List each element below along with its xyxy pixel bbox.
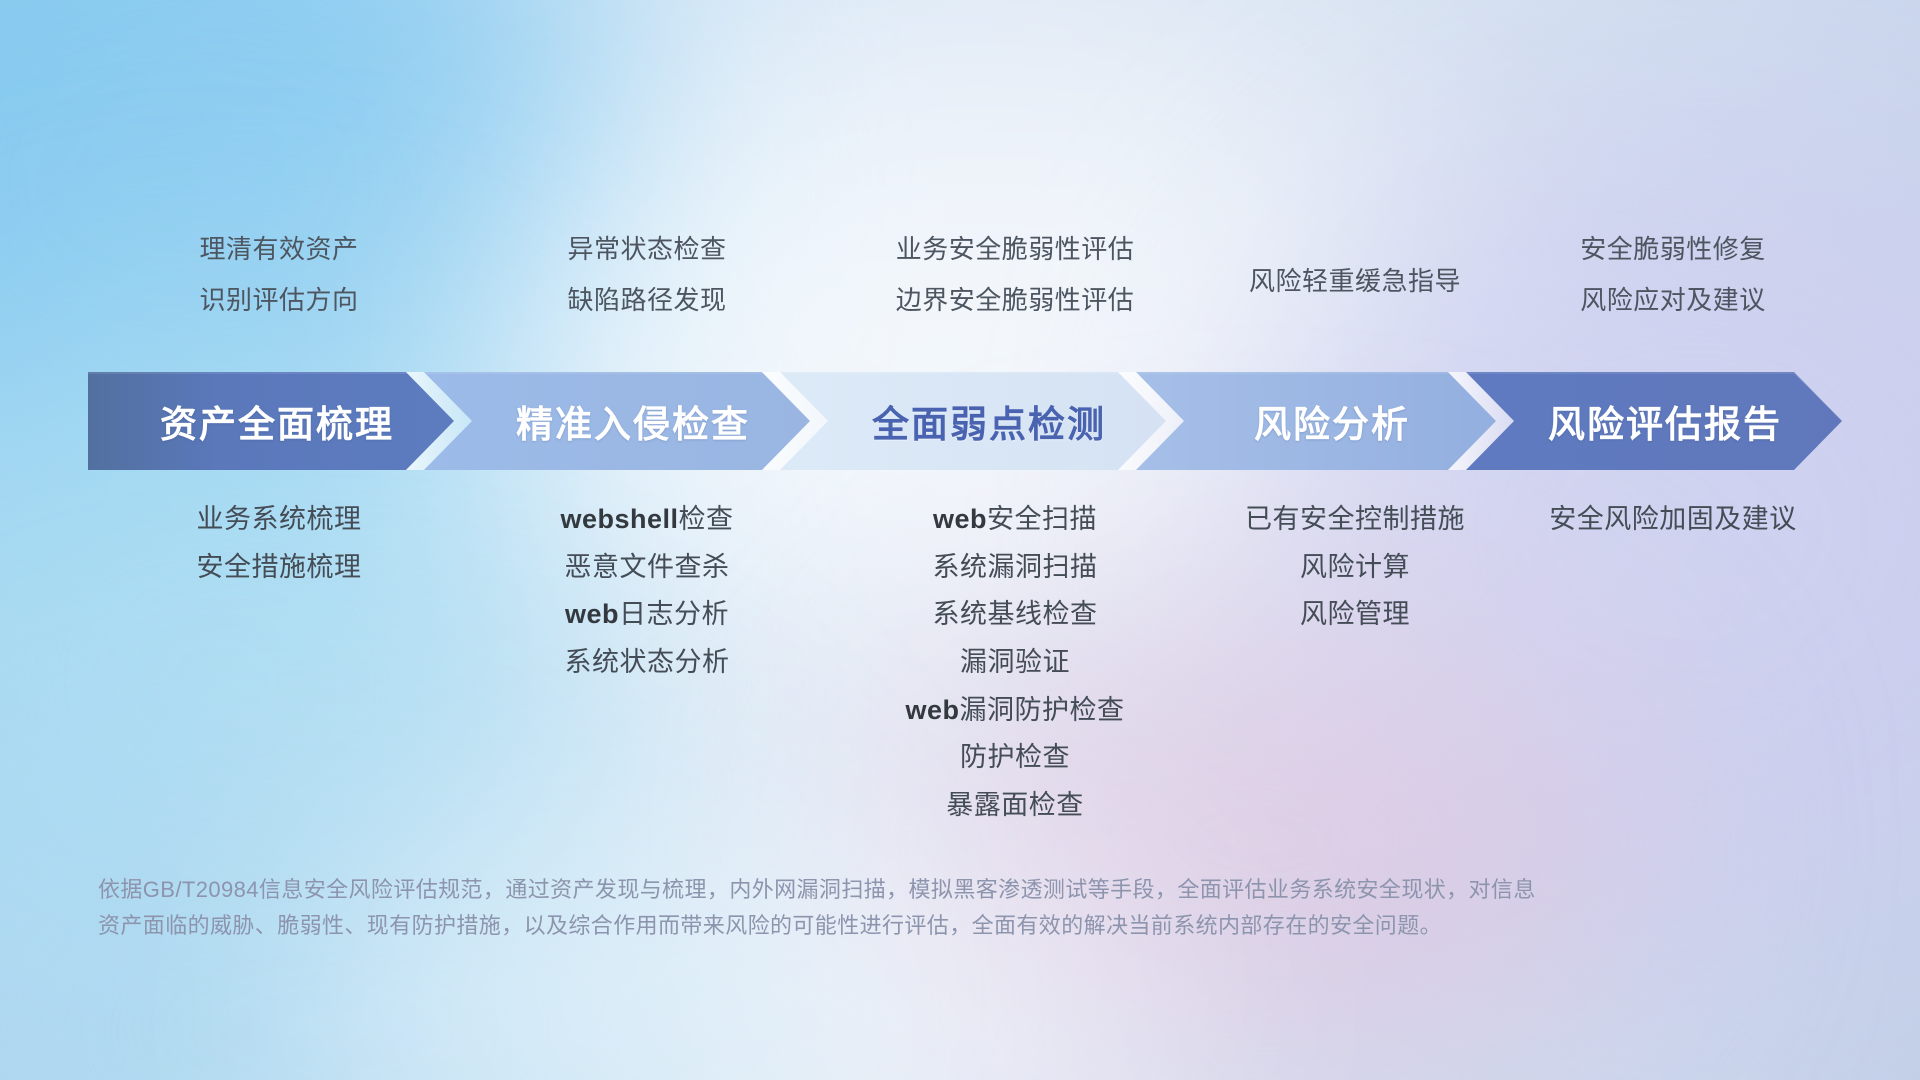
process-diagram: 理清有效资产 识别评估方向 异常状态检查 缺陷路径发现 业务安全脆弱性评估 边界…: [0, 0, 1920, 1080]
stage-title-weakness-detection[interactable]: 全面弱点检测: [800, 372, 1178, 470]
bottom-items-row: 业务系统梳理安全措施梳理 webshell检查恶意文件查杀web日志分析系统状态…: [95, 505, 1835, 821]
list-item[interactable]: 风险管理: [1300, 600, 1410, 630]
stage-title-asset-inventory[interactable]: 资产全面梳理: [88, 372, 466, 470]
items-asset-inventory: 业务系统梳理安全措施梳理: [95, 505, 463, 821]
list-item[interactable]: web日志分析: [565, 600, 729, 630]
list-item[interactable]: 防护检查: [960, 743, 1070, 773]
top-captions-risk-report: 安全脆弱性修复 风险应对及建议: [1511, 235, 1835, 315]
list-item[interactable]: 系统基线检查: [933, 600, 1098, 630]
list-item[interactable]: 系统状态分析: [565, 648, 730, 678]
stage-title-risk-analysis[interactable]: 风险分析: [1156, 372, 1508, 470]
top-captions-weakness-detection: 业务安全脆弱性评估 边界安全脆弱性评估: [831, 235, 1199, 315]
caption: 缺陷路径发现: [567, 286, 726, 315]
top-captions-asset-inventory: 理清有效资产 识别评估方向: [95, 235, 463, 315]
top-captions-row: 理清有效资产 识别评估方向 异常状态检查 缺陷路径发现 业务安全脆弱性评估 边界…: [95, 235, 1835, 315]
caption: 业务安全脆弱性评估: [896, 235, 1135, 264]
caption: 风险轻重缓急指导: [1249, 267, 1461, 296]
caption: 边界安全脆弱性评估: [896, 286, 1135, 315]
footer-line-1: 依据GB/T20984信息安全风险评估规范，通过资产发现与梳理，内外网漏洞扫描，…: [98, 872, 1638, 908]
caption: 理清有效资产: [199, 235, 358, 264]
list-item[interactable]: 风险计算: [1300, 553, 1410, 583]
footer-line-2: 资产面临的威胁、脆弱性、现有防护措施，以及综合作用而带来风险的可能性进行评估，全…: [98, 908, 1638, 944]
stage-title-risk-report[interactable]: 风险评估报告: [1488, 372, 1842, 470]
items-intrusion-check: webshell检查恶意文件查杀web日志分析系统状态分析: [463, 505, 831, 821]
footer-description: 依据GB/T20984信息安全风险评估规范，通过资产发现与梳理，内外网漏洞扫描，…: [98, 872, 1638, 943]
stage-title-intrusion-check[interactable]: 精准入侵检查: [444, 372, 822, 470]
top-captions-risk-analysis: 风险轻重缓急指导: [1199, 235, 1511, 315]
process-chevron-banner: 资产全面梳理 精准入侵检查 全面弱点检测 风险分析 风险评估报告: [88, 372, 1842, 470]
caption: 异常状态检查: [567, 235, 726, 264]
list-item[interactable]: 安全风险加固及建议: [1549, 505, 1797, 535]
top-captions-intrusion-check: 异常状态检查 缺陷路径发现: [463, 235, 831, 315]
list-item[interactable]: 已有安全控制措施: [1245, 505, 1465, 535]
list-item[interactable]: web漏洞防护检查: [905, 696, 1124, 726]
list-item[interactable]: 安全措施梳理: [197, 553, 362, 583]
caption: 安全脆弱性修复: [1580, 235, 1766, 264]
list-item[interactable]: web安全扫描: [933, 505, 1097, 535]
list-item[interactable]: 业务系统梳理: [197, 505, 362, 535]
list-item[interactable]: 恶意文件查杀: [565, 553, 730, 583]
caption: 识别评估方向: [199, 286, 358, 315]
list-item[interactable]: 系统漏洞扫描: [933, 553, 1098, 583]
list-item[interactable]: webshell检查: [560, 505, 733, 535]
list-item[interactable]: 漏洞验证: [960, 648, 1070, 678]
items-weakness-detection: web安全扫描系统漏洞扫描系统基线检查漏洞验证web漏洞防护检查防护检查暴露面检…: [831, 505, 1199, 821]
items-risk-report: 安全风险加固及建议: [1511, 505, 1835, 821]
caption: 风险应对及建议: [1580, 286, 1766, 315]
items-risk-analysis: 已有安全控制措施风险计算风险管理: [1199, 505, 1511, 821]
list-item[interactable]: 暴露面检查: [946, 791, 1084, 821]
